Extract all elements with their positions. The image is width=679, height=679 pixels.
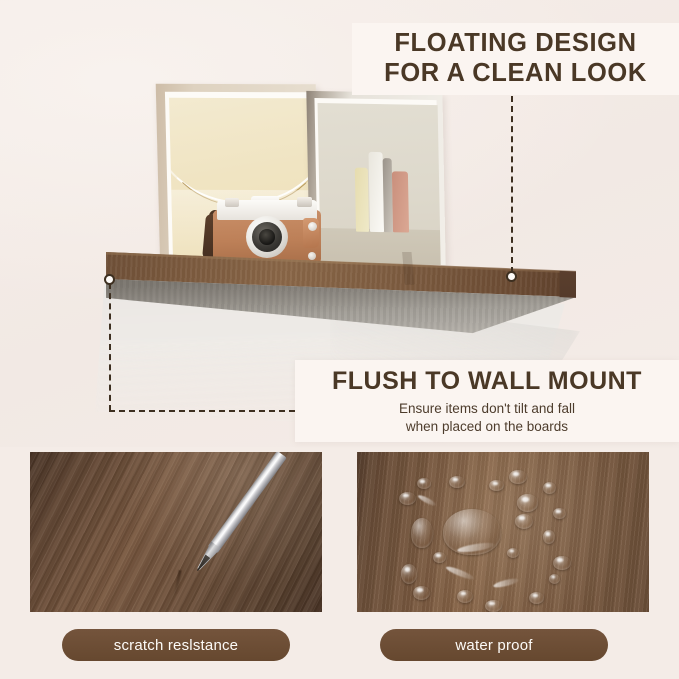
water-droplet [457,590,473,603]
floating-shelf [106,252,576,334]
water-droplet [507,548,519,558]
camera-dial-right [297,197,312,207]
water-droplet [401,564,417,584]
bottle-shape-white [369,152,384,232]
bottle-shape-terracotta [392,171,409,232]
feature-label-water-proof: water proof [380,629,608,661]
water-droplet [549,574,560,584]
feature-label-scratch-resistance: scratch reslstance [62,629,290,661]
water-droplet [489,480,504,491]
water-droplet [411,518,433,548]
water-droplet [553,556,571,570]
callout-bottom-subtitle: Ensure items don't tilt and fall when pl… [399,400,575,436]
callout-top-line-2: FOR A CLEAN LOOK [384,59,647,89]
water-droplet [399,492,416,505]
camera-lens-barrel [252,222,282,252]
camera-dial-left [225,198,239,207]
callout-flush-to-wall: FLUSH TO WALL MOUNT Ensure items don't t… [295,360,679,442]
callout-bottom-subtitle-line-2: when placed on the boards [399,418,575,436]
callout-floating-design: FLOATING DESIGN FOR A CLEAN LOOK [352,23,679,95]
callout-marker-shelf-right [506,271,517,282]
water-droplet [553,508,566,519]
infographic-canvas: FLOATING DESIGN FOR A CLEAN LOOK FLUSH T… [0,0,679,679]
water-droplet [543,482,556,494]
feature-image-scratch-resistance [30,452,322,612]
camera-lens-glass [259,229,275,245]
bottle-shape-yellow [355,168,369,232]
camera-button-top [308,222,317,231]
callout-bottom-title: FLUSH TO WALL MOUNT [332,366,642,396]
framed-still-life-art [306,91,445,265]
callout-leader-line-bottom-horizontal [109,410,305,412]
water-droplet [449,476,465,488]
callout-bottom-subtitle-line-1: Ensure items don't tilt and fall [399,400,575,418]
water-droplet [433,552,446,563]
water-droplet [517,494,538,512]
callout-marker-shelf-left [104,274,115,285]
callout-leader-line-top [511,96,513,273]
wood-surface-light [357,452,649,612]
water-droplet [413,586,430,600]
water-droplet [543,530,555,544]
water-droplet [485,600,502,612]
still-life-artwork [318,103,441,265]
callout-leader-line-bottom-vertical [109,283,111,411]
feature-image-water-proof [357,452,649,612]
screwdriver-tip-point [195,554,210,572]
water-droplet [509,470,527,484]
callout-top-line-1: FLOATING DESIGN [394,29,636,59]
water-droplet [417,478,431,489]
water-droplet [529,592,544,604]
water-droplet [515,514,533,529]
